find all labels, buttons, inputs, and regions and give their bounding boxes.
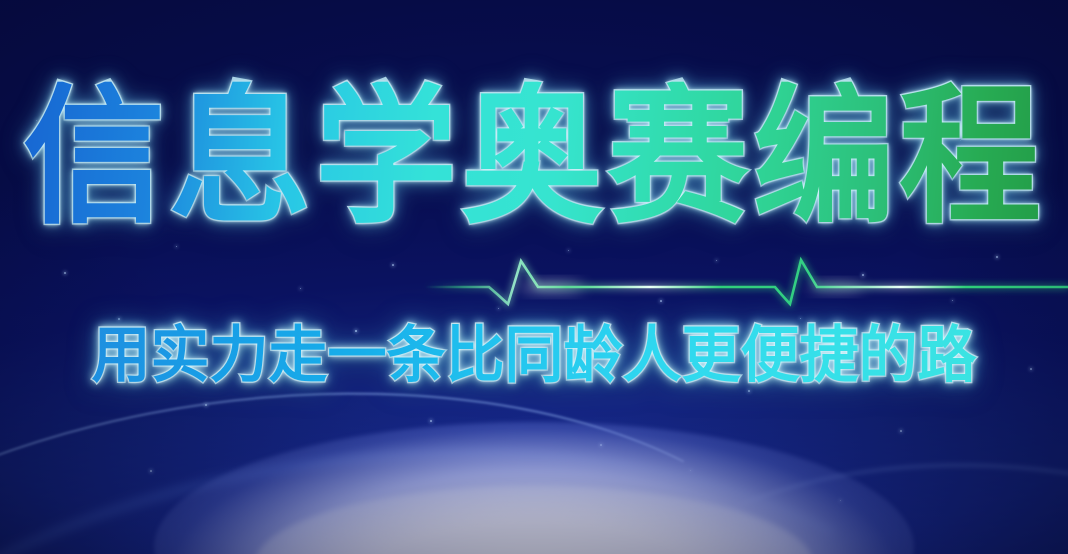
sub-title-text: 用实力走一条比同龄人更便捷的路: [91, 323, 976, 387]
ecg-pulse-line: [0, 250, 1068, 318]
main-title-text: 信息学奥赛编程: [23, 82, 1045, 236]
star-particle: [176, 246, 177, 247]
star-particle: [900, 430, 902, 432]
main-title-block: 信息学奥赛编程 信息学奥赛编程: [0, 86, 1068, 231]
poster-canvas: 信息学奥赛编程 信息学奥赛编程 用实力走一条比同龄人更便捷的路 用实力走一条比同…: [0, 0, 1068, 554]
sub-title-block: 用实力走一条比同龄人更便捷的路 用实力走一条比同龄人更便捷的路: [0, 324, 1068, 386]
